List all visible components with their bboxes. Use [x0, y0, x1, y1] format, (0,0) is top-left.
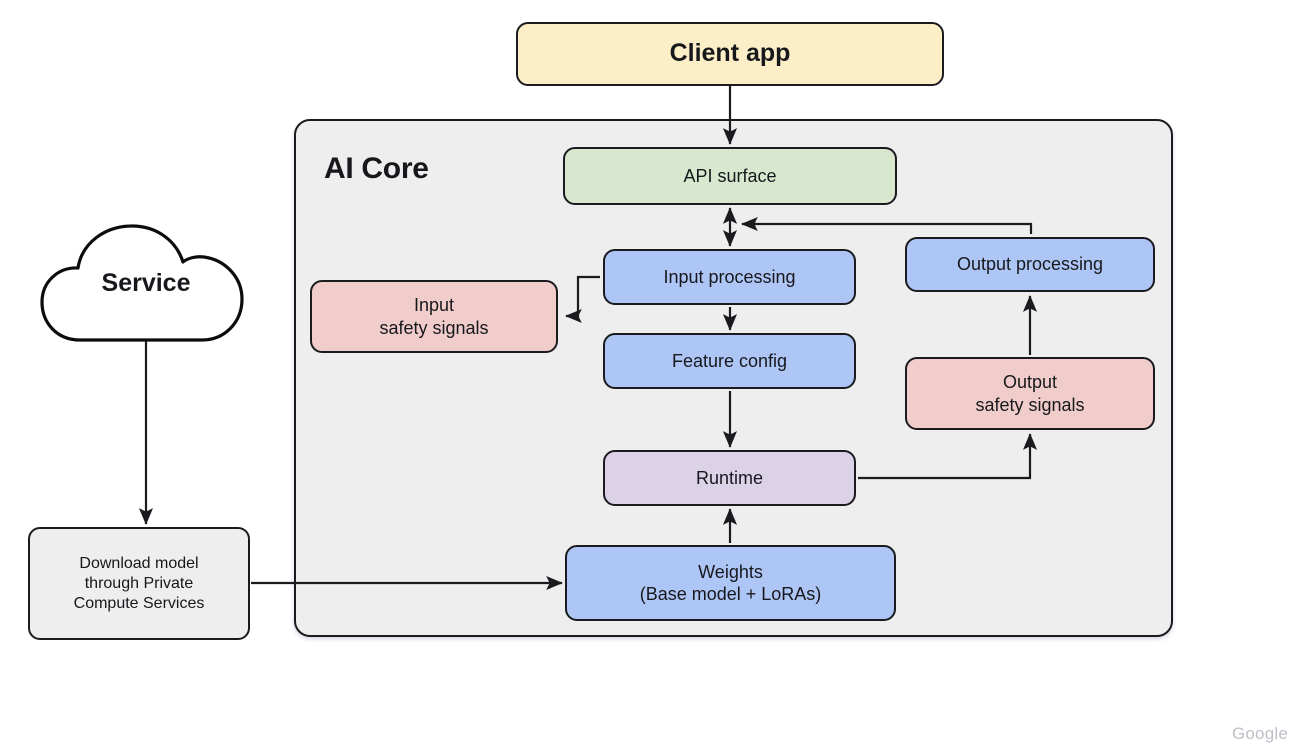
- node-download-model[interactable]: Download model through Private Compute S…: [28, 527, 250, 640]
- node-client-app[interactable]: Client app: [516, 22, 944, 86]
- node-feature-config[interactable]: Feature config: [603, 333, 856, 389]
- node-input-processing[interactable]: Input processing: [603, 249, 856, 305]
- node-output-processing[interactable]: Output processing: [905, 237, 1155, 292]
- google-watermark: Google: [1232, 724, 1288, 744]
- node-weights[interactable]: Weights (Base model + LoRAs): [565, 545, 896, 621]
- node-output-safety-signals[interactable]: Output safety signals: [905, 357, 1155, 430]
- node-runtime[interactable]: Runtime: [603, 450, 856, 506]
- node-input-safety-signals[interactable]: Input safety signals: [310, 280, 558, 353]
- diagram-canvas: AI Core: [0, 0, 1304, 756]
- node-api-surface[interactable]: API surface: [563, 147, 897, 205]
- service-cloud-label: Service: [36, 222, 256, 344]
- ai-core-label: AI Core: [324, 152, 429, 186]
